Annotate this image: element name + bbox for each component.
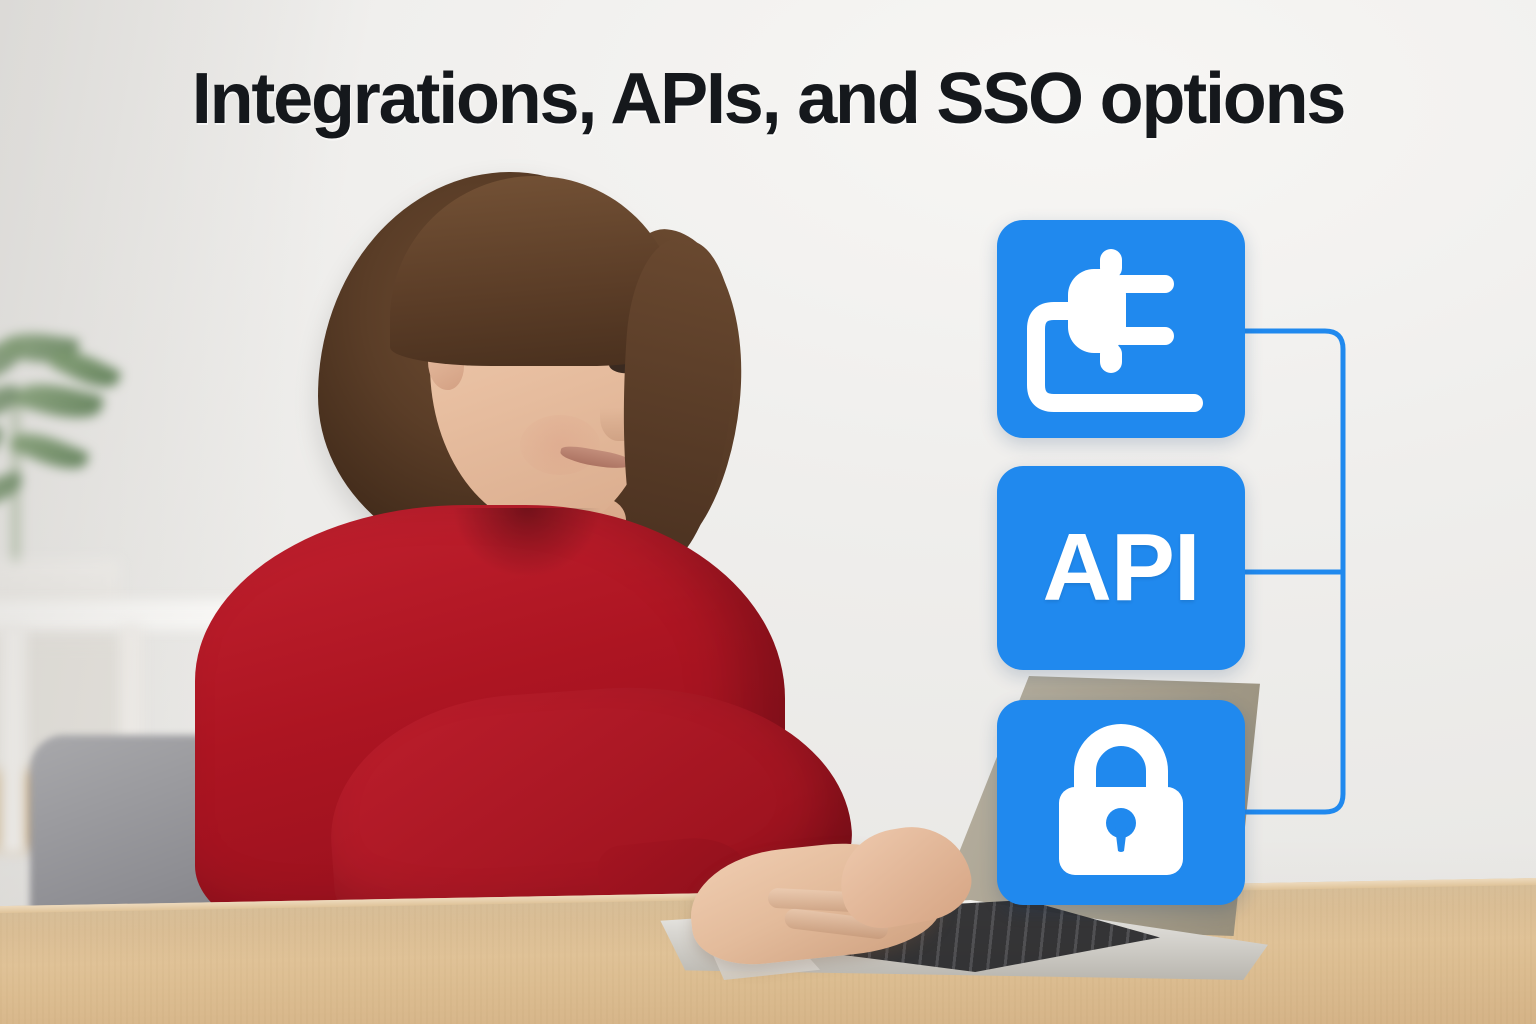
lock-icon [1041, 723, 1201, 883]
cheek-blush [520, 415, 600, 475]
card-sso[interactable] [997, 700, 1245, 905]
api-label: API [1042, 520, 1199, 616]
page-title: Integrations, APIs, and SSO options [0, 58, 1536, 140]
card-api[interactable]: API [997, 466, 1245, 670]
plug-icon [1026, 247, 1216, 412]
card-integrations[interactable] [997, 220, 1245, 438]
sweater-collar [452, 508, 602, 578]
promo-banner: API Integrations, APIs, and SSO options [0, 0, 1536, 1024]
